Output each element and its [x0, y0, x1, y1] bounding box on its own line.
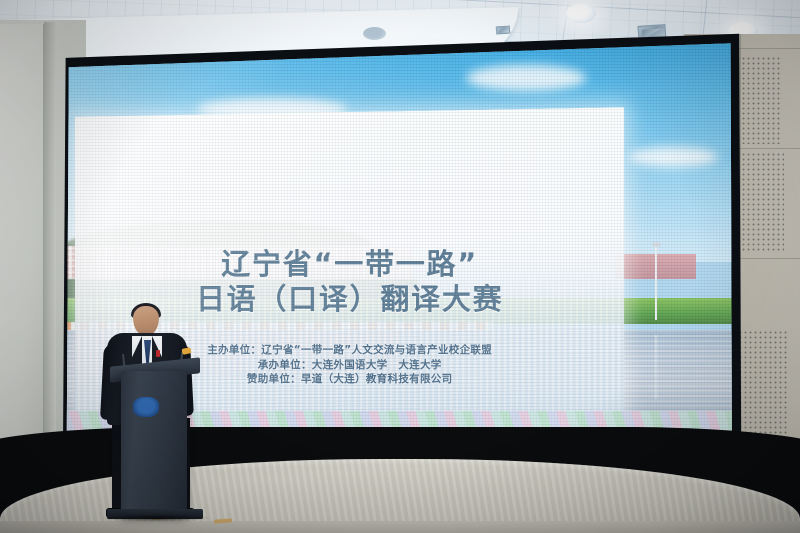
- cloud: [466, 65, 586, 91]
- podium-logo: [133, 397, 159, 417]
- speaker-lapel-badge: [156, 350, 160, 357]
- photo-scene: 辽宁省“一带一路” 日语（口译）翻译大赛 主办单位：辽宁省“一带一路”人文交流与…: [0, 0, 800, 533]
- slide-title-line-1: 辽宁省“一带一路”: [75, 247, 624, 281]
- downlight: [566, 4, 596, 23]
- podium-body: [121, 371, 187, 515]
- street-lamp: [655, 246, 657, 320]
- podium-shadow: [100, 514, 212, 522]
- stage-front-edge: [0, 521, 800, 533]
